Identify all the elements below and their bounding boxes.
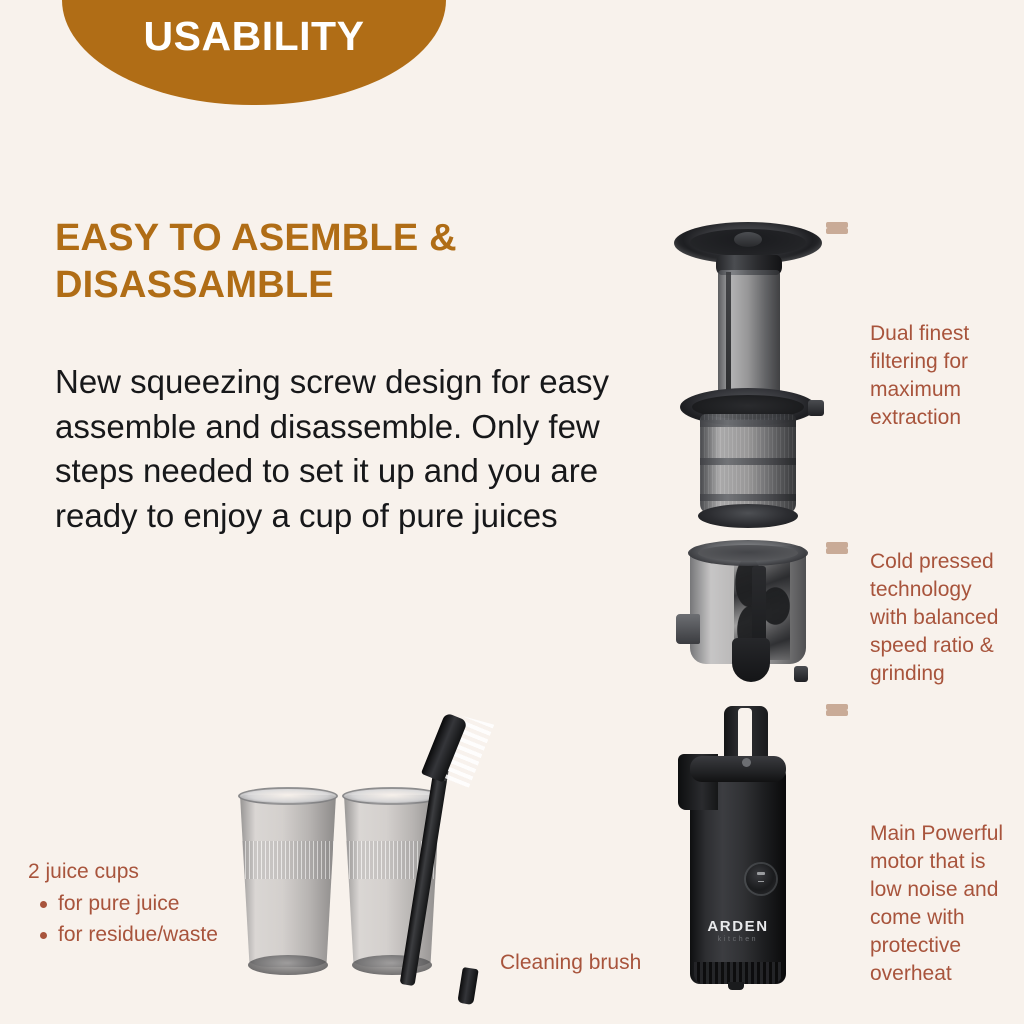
motor-locking-pin xyxy=(742,758,751,767)
annotation-dual-filter: Dual finest filtering for maximum extrac… xyxy=(826,228,1000,528)
bracket-cap-bottom xyxy=(826,704,848,710)
filter-basket xyxy=(700,414,796,514)
bowl-rim-inner xyxy=(698,545,798,561)
usability-badge-label: USABILITY xyxy=(144,16,365,57)
annotation-text: Main Powerful motor that is low noise an… xyxy=(870,820,1020,988)
brand-logo-text: ARDEN xyxy=(690,918,786,935)
cup-ribbed-band xyxy=(241,841,335,879)
bracket-cap-top xyxy=(826,548,848,554)
infographic-canvas: USABILITY EASY TO ASEMBLE & DISASSAMBLE … xyxy=(0,0,1024,1024)
chute-spine xyxy=(726,272,731,400)
filter-rib xyxy=(700,494,796,501)
brush-scraper-tip xyxy=(457,967,478,1005)
bracket-cap-top xyxy=(826,228,848,234)
annotation-text: Dual finest filtering for maximum extrac… xyxy=(870,320,1000,432)
motor-base-image: ARDEN kitchen xyxy=(668,706,818,998)
bracket-cap-bottom xyxy=(826,222,848,228)
cups-caption-list: for pure juice for residue/waste xyxy=(28,890,243,949)
filter-basket-base xyxy=(698,504,798,528)
cup-body xyxy=(240,795,336,967)
bowl-spout xyxy=(676,614,700,644)
bracket-cap-top xyxy=(826,710,848,716)
filter-assembly-image xyxy=(668,222,828,532)
list-item: for residue/waste xyxy=(58,921,243,949)
annotation-text: Cold pressed technology with balanced sp… xyxy=(870,548,1010,688)
cleaning-brush-image xyxy=(398,706,508,1012)
filter-rib xyxy=(700,458,796,465)
juicing-bowl-image xyxy=(676,540,826,685)
juice-cup xyxy=(236,787,340,973)
annotation-motor: Main Powerful motor that is low noise an… xyxy=(826,710,1020,985)
hopper-feed-slot xyxy=(734,232,762,247)
brand-sub-text: kitchen xyxy=(690,936,786,943)
list-item: for pure juice xyxy=(58,890,243,918)
motor-vents xyxy=(694,962,782,984)
body-description: New squeezing screw design for easy asse… xyxy=(55,360,635,538)
power-knob-icon xyxy=(746,864,776,894)
cup-rim xyxy=(238,787,338,805)
bracket-cap-bottom xyxy=(826,542,848,548)
brush-caption: Cleaning brush xyxy=(500,949,641,976)
motor-shoulder xyxy=(690,756,786,782)
cups-caption-title: 2 juice cups xyxy=(28,858,243,886)
cups-caption: 2 juice cups for pure juice for residue/… xyxy=(28,858,243,949)
bowl-foot xyxy=(794,666,808,682)
cup-bottom xyxy=(248,955,328,975)
bowl-outlet-handle xyxy=(732,638,770,682)
annotation-cold-press: Cold pressed technology with balanced sp… xyxy=(826,548,1010,682)
filter-rib xyxy=(700,420,796,427)
page-title: EASY TO ASEMBLE & DISASSAMBLE xyxy=(55,215,615,308)
filter-flange-tab xyxy=(808,400,824,416)
motor-foot xyxy=(728,982,744,990)
usability-badge: USABILITY xyxy=(62,0,446,105)
